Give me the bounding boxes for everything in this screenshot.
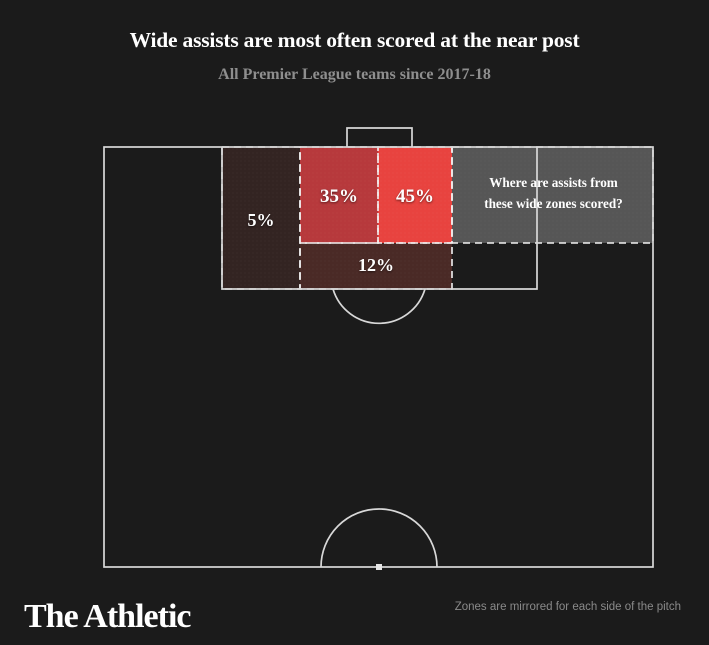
annotation-line-1: Where are assists from xyxy=(461,172,646,193)
infographic-root: Wide assists are most often scored at th… xyxy=(0,0,709,645)
annotation-line-2: these wide zones scored? xyxy=(461,193,646,214)
zone-fills xyxy=(222,147,653,289)
source-note: Zones are mirrored for each side of the … xyxy=(455,601,681,613)
goal-net xyxy=(347,128,412,147)
pitch-diagram: 5% 35% 45% 12% Where are assists from th… xyxy=(0,0,709,645)
annotation-text: Where are assists from these wide zones … xyxy=(461,172,646,214)
penalty-arc xyxy=(333,289,425,323)
pitch-svg xyxy=(0,0,709,645)
center-spot xyxy=(376,564,382,570)
the-athletic-logo: The Athletic xyxy=(24,598,190,636)
